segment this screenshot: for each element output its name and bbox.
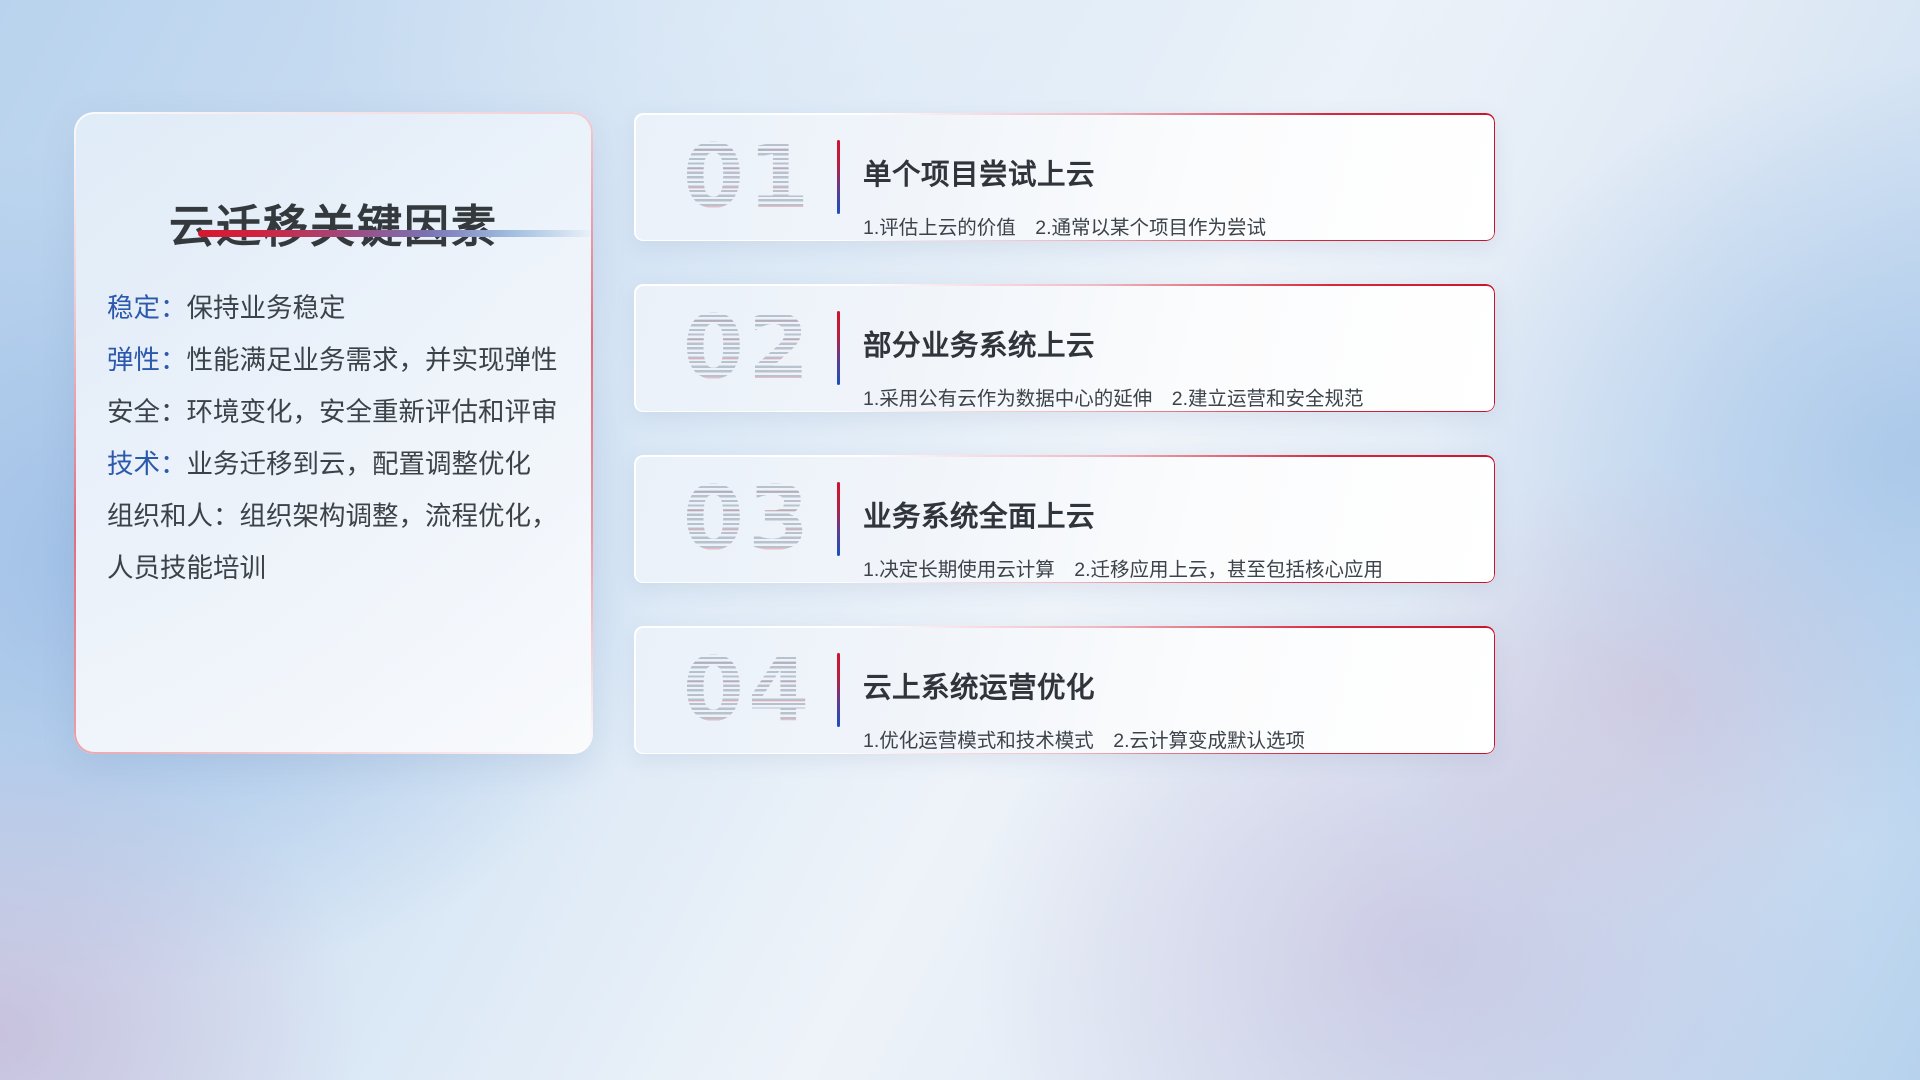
stage-card-body: 单个项目尝试上云1.评估上云的价值 2.通常以某个项目作为尝试 [863, 134, 1475, 241]
key-factor-text: 性能满足业务需求，并实现弹性 [187, 345, 558, 375]
stage-card-title: 云上系统运营优化 [863, 671, 1475, 706]
stage-accent-bar [837, 311, 840, 385]
key-factor-label: 技术： [107, 449, 187, 479]
stage-accent-bar [837, 140, 840, 214]
key-factor-label: 稳定： [107, 293, 187, 323]
stage-card[interactable]: 0303业务系统全面上云1.决定长期使用云计算 2.迁移应用上云，甚至包括核心应… [634, 455, 1495, 583]
stage-card[interactable]: 0404云上系统运营优化1.优化运营模式和技术模式 2.云计算变成默认选项 [634, 626, 1495, 754]
stage-accent-bar [837, 482, 840, 556]
key-factor-row: 弹性：性能满足业务需求，并实现弹性 [107, 360, 575, 361]
stage-card-title: 单个项目尝试上云 [863, 158, 1475, 193]
stage-card-title: 部分业务系统上云 [863, 329, 1475, 364]
key-factor-text: 保持业务稳定 [187, 293, 346, 323]
key-factor-text: 组织架构调整，流程优化， [240, 501, 558, 531]
key-factor-row: 安全：环境变化，安全重新评估和评审 [107, 412, 575, 413]
key-factors-list: 稳定：保持业务稳定弹性：性能满足业务需求，并实现弹性安全：环境变化，安全重新评估… [107, 308, 575, 569]
stage-card-description: 1.采用公有云作为数据中心的延伸 2.建立运营和安全规范 [863, 387, 1475, 412]
key-factor-row: 技术：业务迁移到云，配置调整优化 [107, 464, 575, 465]
stage-number: 03 [658, 463, 838, 575]
stage-number: 04 [658, 634, 838, 746]
stage-accent-bar [837, 653, 840, 727]
stage-card-body: 云上系统运营优化1.优化运营模式和技术模式 2.云计算变成默认选项 [863, 647, 1475, 754]
stage-card-title: 业务系统全面上云 [863, 500, 1475, 535]
stage-card-description: 1.评估上云的价值 2.通常以某个项目作为尝试 [863, 216, 1475, 241]
panel-title: 云迁移关键因素 [74, 190, 593, 255]
cloud-migration-stage-cards: 0101单个项目尝试上云1.评估上云的价值 2.通常以某个项目作为尝试0202部… [634, 113, 1495, 754]
slide-stage: 云迁移关键因素 稳定：保持业务稳定弹性：性能满足业务需求，并实现弹性安全：环境变… [0, 0, 1920, 1080]
key-factor-row: 组织和人：组织架构调整，流程优化， [107, 516, 575, 517]
stage-card[interactable]: 0202部分业务系统上云1.采用公有云作为数据中心的延伸 2.建立运营和安全规范 [634, 284, 1495, 412]
key-factor-label: 弹性： [107, 345, 187, 375]
stage-card-body: 业务系统全面上云1.决定长期使用云计算 2.迁移应用上云，甚至包括核心应用 [863, 476, 1475, 583]
key-factors-panel: 云迁移关键因素 稳定：保持业务稳定弹性：性能满足业务需求，并实现弹性安全：环境变… [74, 112, 593, 754]
key-factor-text: 人员技能培训 [107, 553, 266, 583]
key-factor-label: 组织和人： [107, 501, 240, 531]
key-factor-row: 稳定：保持业务稳定 [107, 308, 575, 309]
stage-card-body: 部分业务系统上云1.采用公有云作为数据中心的延伸 2.建立运营和安全规范 [863, 305, 1475, 412]
key-factor-text: 业务迁移到云，配置调整优化 [187, 449, 532, 479]
key-factor-row: 人员技能培训 [107, 568, 575, 569]
key-factor-text: 环境变化，安全重新评估和评审 [187, 397, 558, 427]
stage-number: 01 [658, 121, 838, 233]
key-factor-label: 安全： [107, 397, 187, 427]
stage-number: 02 [658, 292, 838, 404]
stage-card[interactable]: 0101单个项目尝试上云1.评估上云的价值 2.通常以某个项目作为尝试 [634, 113, 1495, 241]
stage-card-description: 1.优化运营模式和技术模式 2.云计算变成默认选项 [863, 729, 1475, 754]
stage-card-description: 1.决定长期使用云计算 2.迁移应用上云，甚至包括核心应用 [863, 558, 1475, 583]
panel-title-underline [198, 230, 593, 237]
